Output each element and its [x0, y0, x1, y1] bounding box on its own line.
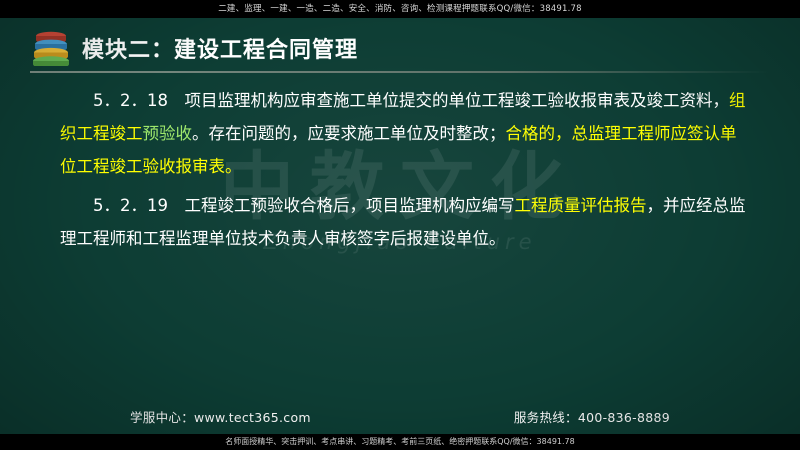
text-run: 项目监理机构应审查施工单位提交的单位工程竣工验收报审表及竣工资料，: [168, 91, 729, 110]
title-divider: [30, 71, 770, 73]
top-banner-text: 二建、监理、一建、一造、二造、安全、消防、咨询、检测课程押题联系QQ/微信：38…: [0, 0, 800, 18]
presentation-slide: 二建、监理、一建、一造、二造、安全、消防、咨询、检测课程押题联系QQ/微信：38…: [0, 0, 800, 450]
footer-service-center: 学服中心：www.tect365.com: [130, 407, 311, 426]
text-run: 工程质量评估报告: [515, 196, 647, 215]
paragraph-5-2-19: 5．2．19 工程竣工预验收合格后，项目监理机构应编写工程质量评估报告，并应经总…: [60, 189, 752, 255]
text-run: 工程竣工预验收合格后，项目监理机构应编写: [168, 196, 515, 215]
text-run: 。存在问题的，应要求施工单位及时整改；: [192, 124, 506, 143]
slide-body: 5．2．18 项目监理机构应审查施工单位提交的单位工程竣工验收报审表及竣工资料，…: [60, 84, 752, 261]
slide-footer: 学服中心：www.tect365.com 服务热线：400-836-8889: [0, 407, 800, 426]
page-title: 模块二：建设工程合同管理: [82, 32, 358, 64]
slide-header: 模块二：建设工程合同管理: [30, 26, 770, 70]
paragraph-5-2-18: 5．2．18 项目监理机构应审查施工单位提交的单位工程竣工验收报审表及竣工资料，…: [60, 84, 752, 183]
books-icon: [30, 30, 72, 66]
text-run: 5．2．19: [93, 196, 168, 215]
text-run: 预验收: [143, 124, 193, 143]
footer-hotline: 服务热线：400-836-8889: [514, 407, 670, 426]
bottom-banner-text: 名师面授精华、突击押训、考点串讲、习题精考、考前三页纸、绝密押题联系QQ/微信：…: [0, 434, 800, 450]
text-run: 5．2．18: [93, 91, 168, 110]
